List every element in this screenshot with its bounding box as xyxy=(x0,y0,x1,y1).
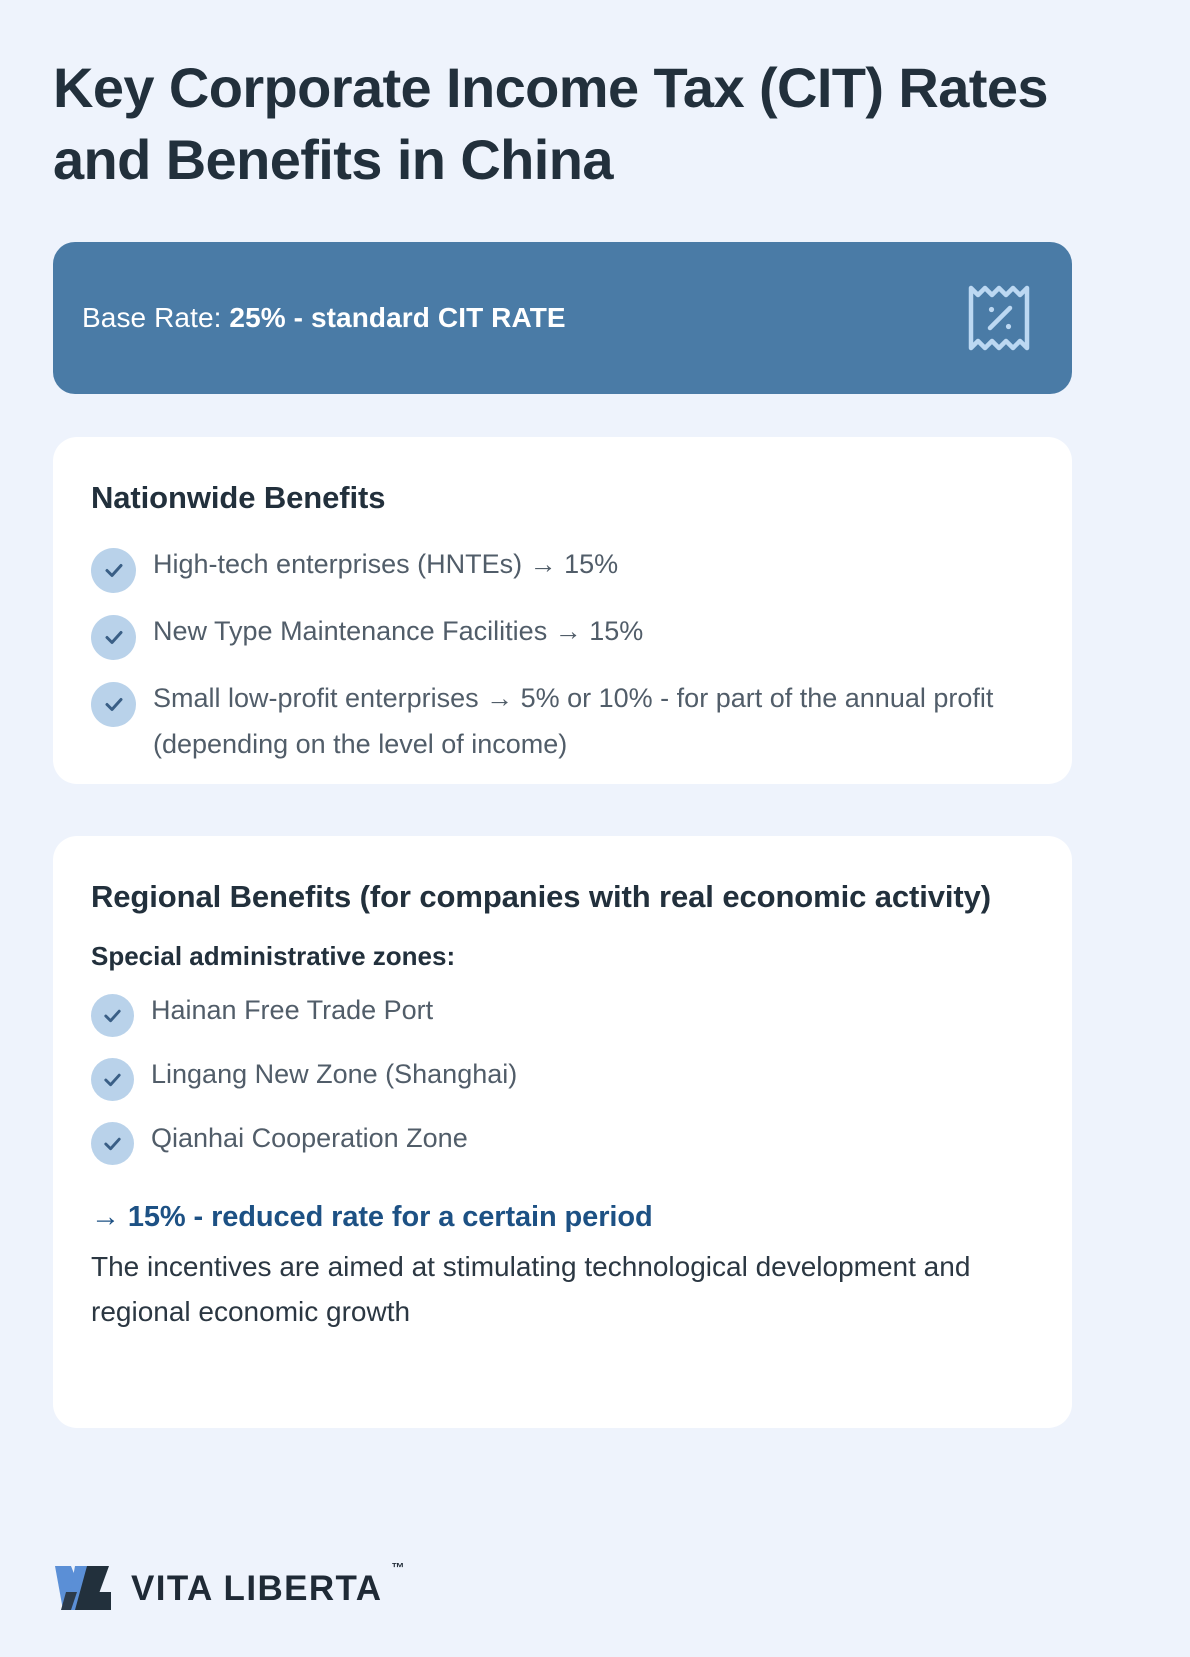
list-item-label: Qianhai Cooperation Zone xyxy=(151,1115,468,1161)
page-title: Key Corporate Income Tax (CIT) Rates and… xyxy=(53,52,1053,195)
vita-liberta-v-mark-icon xyxy=(53,1564,115,1612)
list-item: New Type Maintenance Facilities → 15% xyxy=(91,613,1034,660)
list-item: Small low-profit enterprises → 5% or 10%… xyxy=(91,680,1034,768)
incentives-note: The incentives are aimed at stimulating … xyxy=(91,1244,991,1335)
check-icon xyxy=(91,615,136,660)
base-rate-label: Base Rate: xyxy=(82,302,222,333)
list-item-label: Hainan Free Trade Port xyxy=(151,987,433,1033)
base-rate-banner: Base Rate: 25% - standard CIT RATE xyxy=(53,242,1072,394)
check-icon xyxy=(91,1122,134,1165)
special-zones-subheading: Special administrative zones: xyxy=(91,941,1034,972)
footer-logo: VITA LIBERTA ™ xyxy=(53,1558,382,1618)
check-icon xyxy=(91,548,136,593)
list-item: Hainan Free Trade Port xyxy=(91,992,1034,1037)
regional-benefits-card: Regional Benefits (for companies with re… xyxy=(53,836,1072,1428)
special-zones-list: Hainan Free Trade Port Lingang New Zone … xyxy=(91,992,1034,1165)
check-icon xyxy=(91,994,134,1037)
nationwide-list: High-tech enterprises (HNTEs) → 15% New … xyxy=(91,546,1034,768)
trademark-symbol: ™ xyxy=(391,1561,404,1574)
base-rate-text: Base Rate: 25% - standard CIT RATE xyxy=(82,302,566,334)
list-item-label: New Type Maintenance Facilities → 15% xyxy=(153,608,643,654)
base-rate-value: 25% - standard CIT RATE xyxy=(229,302,565,333)
logo-wordmark: VITA LIBERTA ™ xyxy=(131,1571,382,1606)
logo-text: VITA LIBERTA xyxy=(131,1569,382,1608)
nationwide-benefits-card: Nationwide Benefits High-tech enterprise… xyxy=(53,437,1072,784)
list-item: High-tech enterprises (HNTEs) → 15% xyxy=(91,546,1034,593)
nationwide-heading: Nationwide Benefits xyxy=(91,477,1034,520)
check-icon xyxy=(91,682,136,727)
list-item-label: Lingang New Zone (Shanghai) xyxy=(151,1051,517,1097)
list-item: Lingang New Zone (Shanghai) xyxy=(91,1056,1034,1101)
regional-heading: Regional Benefits (for companies with re… xyxy=(91,876,1011,919)
infographic-page: Key Corporate Income Tax (CIT) Rates and… xyxy=(0,0,1190,1657)
list-item-label: Small low-profit enterprises → 5% or 10%… xyxy=(153,675,1034,768)
receipt-percent-icon xyxy=(964,278,1034,358)
list-item: Qianhai Cooperation Zone xyxy=(91,1120,1034,1165)
check-icon xyxy=(91,1058,134,1101)
list-item-label: High-tech enterprises (HNTEs) → 15% xyxy=(153,541,618,587)
reduced-rate-highlight: → 15% - reduced rate for a certain perio… xyxy=(91,1201,1034,1234)
